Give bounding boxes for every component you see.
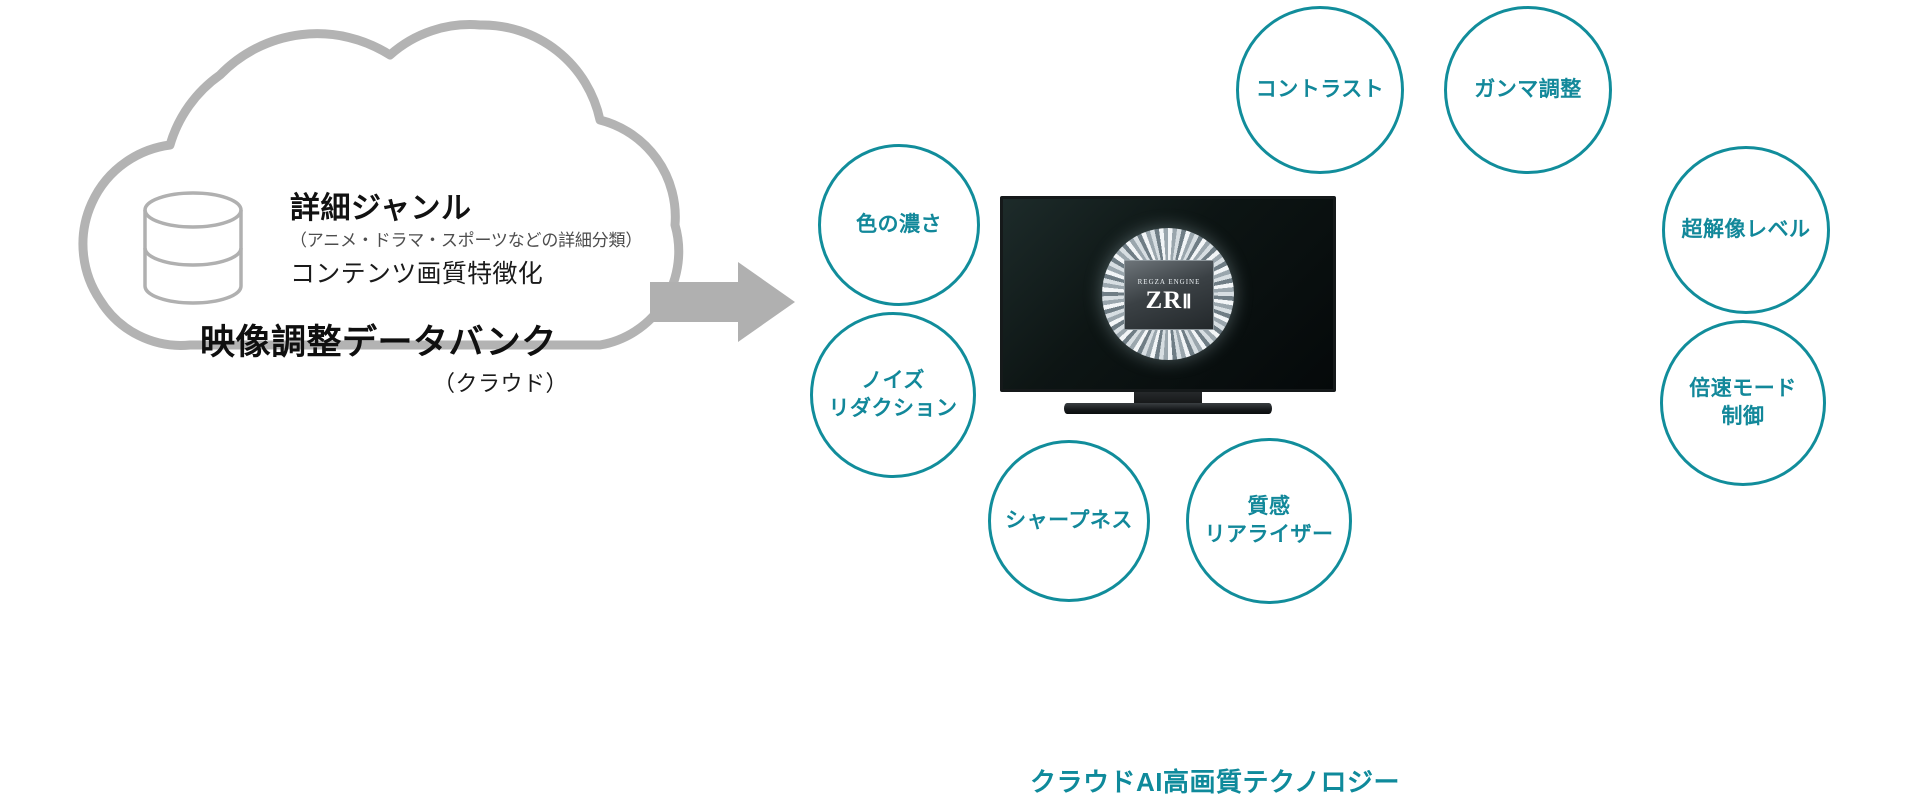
- feature-circle-label: コントラスト: [1256, 76, 1385, 104]
- feature-circle-super-resolution[interactable]: 超解像レベル: [1662, 146, 1830, 314]
- feature-circle-label: 超解像レベル: [1682, 216, 1811, 244]
- genre-title: 詳細ジャンル: [290, 190, 690, 228]
- tv-illustration: REGZA ENGINE ZRⅡ: [1000, 196, 1336, 426]
- feature-circle-sharpness[interactable]: シャープネス: [988, 440, 1150, 602]
- flow-arrow-icon: [650, 262, 795, 342]
- tv-stand-base: [1064, 403, 1272, 414]
- data-bank-block: 映像調整データバンク （クラウド）: [200, 322, 620, 398]
- tv-screen: REGZA ENGINE ZRⅡ: [1000, 196, 1336, 392]
- diagram-canvas: 詳細ジャンル （アニメ・ドラマ・スポーツなどの詳細分類） コンテンツ画質特徴化 …: [0, 0, 1920, 808]
- feature-circle-label: シャープネス: [1005, 507, 1133, 535]
- feature-circle-gamma[interactable]: ガンマ調整: [1444, 6, 1612, 174]
- feature-line: コンテンツ画質特徴化: [290, 258, 690, 291]
- feature-circle-contrast[interactable]: コントラスト: [1236, 6, 1404, 174]
- data-bank-subtitle: （クラウド）: [200, 366, 620, 398]
- technology-caption: クラウドAI高画質テクノロジー: [1000, 762, 1430, 799]
- zr-badge-text: ZRⅡ: [1145, 288, 1192, 313]
- regza-engine-label: REGZA ENGINE: [1138, 278, 1201, 286]
- feature-circle-label: ガンマ調整: [1474, 76, 1582, 104]
- regza-badge: REGZA ENGINE ZRⅡ: [1124, 260, 1214, 330]
- feature-circle-noise-reduction[interactable]: ノイズ リダクション: [810, 312, 976, 478]
- feature-circle-speed-mode[interactable]: 倍速モード 制御: [1660, 320, 1826, 486]
- zr-number: Ⅱ: [1182, 292, 1192, 313]
- cloud-text-block: 詳細ジャンル （アニメ・ドラマ・スポーツなどの詳細分類） コンテンツ画質特徴化: [290, 190, 690, 290]
- feature-circle-label: ノイズ リダクション: [829, 367, 958, 424]
- feature-circle-label: 倍速モード 制御: [1689, 375, 1797, 432]
- genre-subtitle: （アニメ・ドラマ・スポーツなどの詳細分類）: [290, 230, 690, 252]
- zr-letters: ZR: [1145, 287, 1182, 314]
- feature-circle-color-density[interactable]: 色の濃さ: [818, 144, 980, 306]
- regza-disc-graphic: REGZA ENGINE ZRⅡ: [1102, 228, 1234, 360]
- feature-circle-label: 色の濃さ: [856, 211, 942, 239]
- database-icon: [138, 188, 248, 313]
- feature-circle-texture-realizer[interactable]: 質感 リアライザー: [1186, 438, 1352, 604]
- data-bank-title: 映像調整データバンク: [200, 322, 620, 364]
- feature-circle-label: 質感 リアライザー: [1205, 493, 1334, 550]
